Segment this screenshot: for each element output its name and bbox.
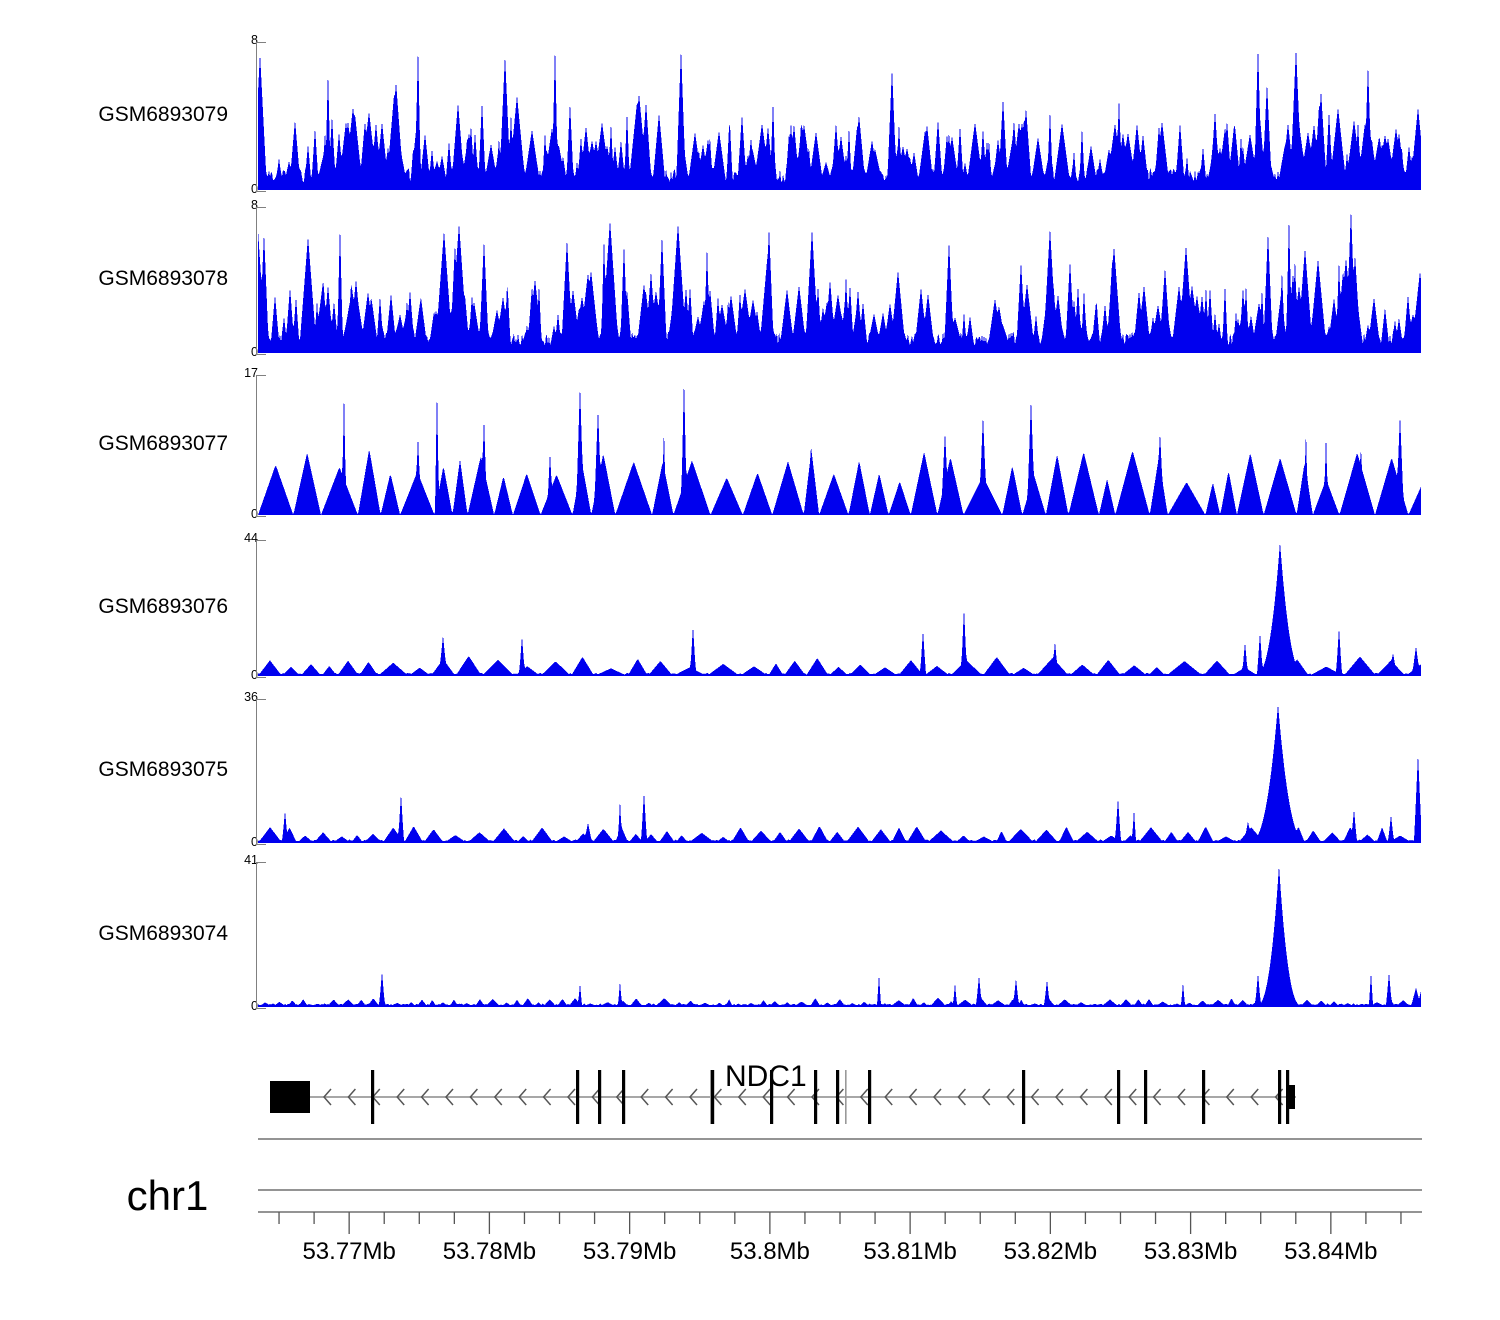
coverage-track-gsm6893079[interactable]: GSM6893079 8 0 [0,42,1500,190]
track-label: GSM6893076 [98,596,228,617]
coverage-area [258,42,1422,190]
ruler-tick-label: 53.84Mb [1284,1240,1377,1264]
ruler-tick-label: 53.82Mb [1004,1240,1097,1264]
ruler-tick-label: 53.78Mb [443,1240,536,1264]
ruler-tick-label: 53.8Mb [730,1240,810,1264]
track-label: GSM6893075 [98,759,228,780]
chromosome-label: chr1 [60,1175,275,1217]
coverage-area [258,375,1422,515]
genome-browser: GSM6893079 8 0 GSM6893078 8 0 GSM6893077… [0,0,1500,1320]
ruler-tick-label: 53.77Mb [302,1240,395,1264]
coverage-plot[interactable] [258,862,1422,1007]
coverage-track-gsm6893075[interactable]: GSM6893075 36 0 [0,699,1500,843]
track-label: GSM6893077 [98,433,228,454]
coverage-area [258,699,1422,843]
ruler-tick-label: 53.81Mb [863,1240,956,1264]
coverage-plot[interactable] [258,207,1422,353]
coverage-plot[interactable] [258,375,1422,515]
coverage-area [258,207,1422,353]
track-label: GSM6893078 [98,268,228,289]
gene-model-track[interactable] [0,1055,1500,1185]
ruler-tick-label: 53.79Mb [583,1240,676,1264]
coverage-area [258,540,1422,676]
coverage-plot[interactable] [258,540,1422,676]
ruler-tick-label: 53.83Mb [1144,1240,1237,1264]
coverage-plot[interactable] [258,699,1422,843]
coverage-track-gsm6893074[interactable]: GSM6893074 41 0 [0,862,1500,1007]
coverage-track-gsm6893077[interactable]: GSM6893077 17 0 [0,375,1500,515]
coverage-track-gsm6893076[interactable]: GSM6893076 44 0 [0,540,1500,676]
genomic-ruler[interactable] [258,1186,1422,1241]
ruler-svg [258,1186,1422,1236]
track-label: GSM6893079 [98,104,228,125]
track-label: GSM6893074 [98,923,228,944]
coverage-plot[interactable] [258,42,1422,190]
gene-model-svg [258,1055,1422,1145]
coverage-area [258,862,1422,1007]
coverage-track-gsm6893078[interactable]: GSM6893078 8 0 [0,207,1500,353]
